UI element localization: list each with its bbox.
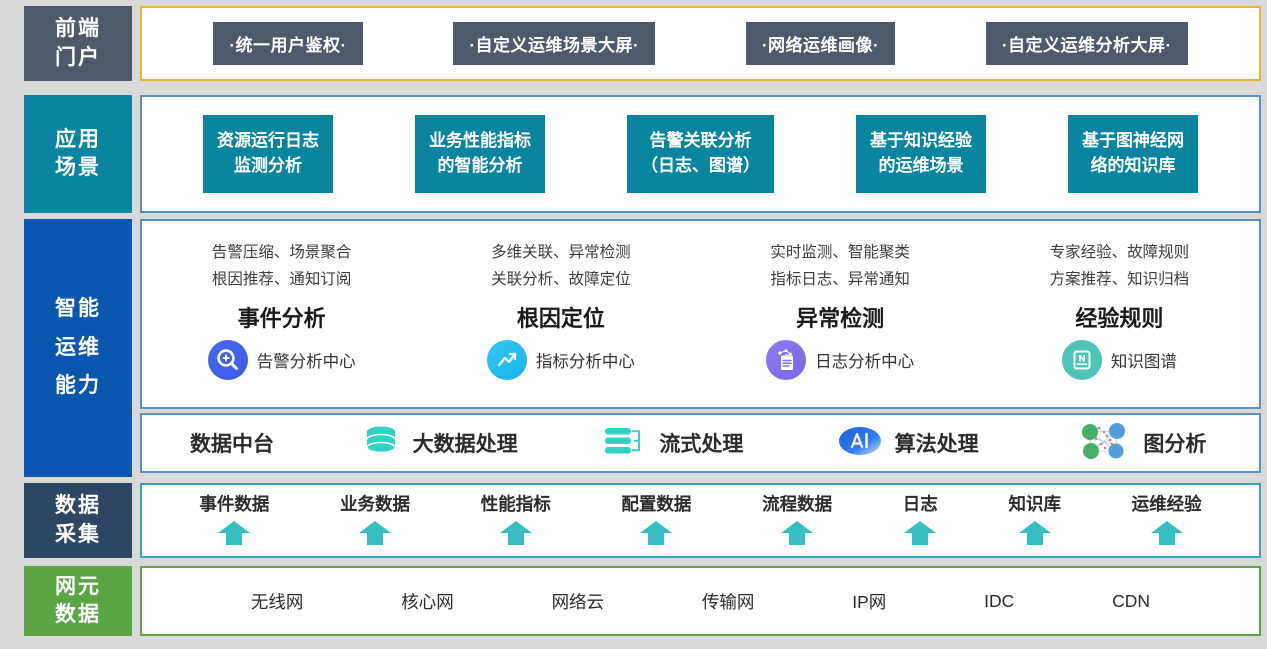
scenario-chip-resource-log[interactable]: 资源运行日志 监测分析 — [203, 115, 333, 192]
portal-chip-custom-ops-dashboard[interactable]: ·自定义运维场景大屏· — [453, 22, 655, 65]
aiops-architecture-diagram: 前端 门户 ·统一用户鉴权· ·自定义运维场景大屏· ·网络运维画像· ·自定义… — [0, 0, 1267, 649]
collect-item-config-data[interactable]: 配置数据 — [621, 491, 691, 546]
collect-item-label: 事件数据 — [199, 491, 269, 516]
data-platform-item-label: 算法处理 — [895, 428, 979, 458]
collect-item-label: 运维经验 — [1132, 491, 1202, 516]
collect-item-business-data[interactable]: 业务数据 — [340, 491, 410, 546]
capability-subtitle-2: 指标日志、异常通知 — [770, 266, 910, 293]
collect-item-label: 业务数据 — [340, 491, 410, 516]
capability-subtitle-1: 实时监测、智能聚类 — [770, 239, 910, 266]
ne-item-network-cloud[interactable]: 网络云 — [552, 589, 605, 614]
capability-center-name: 日志分析中心 — [815, 348, 914, 372]
row-label-application-scenario: 应用 场景 — [24, 95, 132, 213]
data-platform-item-label: 大数据处理 — [413, 428, 518, 458]
row-label-line2: 数据 — [55, 601, 101, 629]
collect-item-event-data[interactable]: 事件数据 — [199, 491, 269, 546]
row-label-data-collection: 数据 采集 — [24, 483, 132, 558]
data-platform-item-bigdata[interactable]: 大数据处理 — [322, 424, 556, 463]
capability-column-anomaly-detection: 实时监测、智能聚类 指标日志、异常通知 异常检测 — [701, 221, 980, 407]
capability-subtitle-2: 根因推荐、通知订阅 — [212, 266, 352, 293]
collect-item-knowledge-base[interactable]: 知识库 — [1008, 491, 1061, 546]
scenario-chip-business-kpi[interactable]: 业务性能指标 的智能分析 — [415, 115, 545, 192]
capability-center[interactable]: 告警分析中心 — [208, 340, 356, 380]
capability-center[interactable]: 指标分析中心 — [487, 340, 635, 380]
data-platform-title: 数据中台 — [142, 428, 322, 458]
capability-column-event-analysis: 告警压缩、场景聚合 根因推荐、通知订阅 事件分析 告警分析中心 — [142, 221, 421, 407]
capability-column-root-cause: 多维关联、异常检测 关联分析、故障定位 根因定位 指标分析中心 — [421, 221, 700, 407]
collect-item-label: 日志 — [903, 491, 938, 516]
collect-item-performance-kpi[interactable]: 性能指标 — [481, 491, 551, 546]
scenario-chip-gnn-knowledge-base[interactable]: 基于图神经网 络的知识库 — [1068, 115, 1198, 192]
svg-text:N: N — [1078, 355, 1086, 365]
row-label-line1: 数据 — [55, 492, 101, 520]
scenario-chip-line2: 的运维场景 — [870, 154, 972, 179]
collect-item-ops-experience[interactable]: 运维经验 — [1132, 491, 1202, 546]
row-application-scenario: 应用 场景 资源运行日志 监测分析 业务性能指标 的智能分析 告警关联分析 （日… — [0, 95, 1267, 213]
collect-item-label: 配置数据 — [621, 491, 691, 516]
ne-item-transport[interactable]: 传输网 — [702, 589, 755, 614]
portal-chip-custom-analysis-dashboard[interactable]: ·自定义运维分析大屏· — [986, 22, 1188, 65]
row-label-line1: 前端 — [55, 15, 101, 43]
capability-center[interactable]: N 知识图谱 — [1062, 340, 1177, 380]
row-frontend-portal: 前端 门户 ·统一用户鉴权· ·自定义运维场景大屏· ·网络运维画像· ·自定义… — [0, 6, 1267, 81]
row-label-network-element-data: 网元 数据 — [24, 566, 132, 636]
scenario-chip-line1: 资源运行日志 — [217, 129, 319, 154]
row-label-aiops-capability: 智能 运维 能力 — [24, 219, 132, 477]
capability-center-name: 知识图谱 — [1111, 348, 1177, 372]
capability-column-experience-rules: 专家经验、故障规则 方案推荐、知识归档 经验规则 N 知识图谱 — [980, 221, 1259, 407]
knowledge-graph-icon: N — [1062, 340, 1102, 380]
ne-item-idc[interactable]: IDC — [984, 591, 1014, 612]
row-label-line2: 采集 — [55, 521, 101, 549]
capability-title: 经验规则 — [1075, 301, 1163, 333]
aiops-right-stack: 告警压缩、场景聚合 根因推荐、通知订阅 事件分析 告警分析中心 — [140, 219, 1261, 477]
scenario-panel: 资源运行日志 监测分析 业务性能指标 的智能分析 告警关联分析 （日志、图谱） … — [140, 95, 1261, 213]
collect-item-label: 知识库 — [1008, 491, 1061, 516]
portal-chip-auth[interactable]: ·统一用户鉴权· — [213, 22, 362, 65]
scenario-chip-line1: 基于知识经验 — [870, 129, 972, 154]
up-arrow-icon — [499, 520, 533, 546]
capability-subtitle-2: 方案推荐、知识归档 — [1050, 266, 1190, 293]
up-arrow-icon — [1150, 520, 1184, 546]
row-network-element-data: 网元 数据 无线网 核心网 网络云 传输网 IP网 IDC CDN — [0, 566, 1267, 636]
scenario-chip-line2: 络的知识库 — [1082, 154, 1184, 179]
log-clipboard-icon — [766, 340, 806, 380]
capability-center-name: 指标分析中心 — [536, 348, 635, 372]
row-label-line1: 网元 — [55, 573, 101, 601]
capability-subtitle-1: 告警压缩、场景聚合 — [212, 239, 352, 266]
capability-subtitle-1: 专家经验、故障规则 — [1050, 239, 1190, 266]
row-label-frontend-portal: 前端 门户 — [24, 6, 132, 81]
network-element-panel: 无线网 核心网 网络云 传输网 IP网 IDC CDN — [140, 566, 1261, 636]
row-label-line2: 场景 — [55, 154, 101, 182]
capability-center-name: 告警分析中心 — [257, 348, 356, 372]
scenario-chip-knowledge-based-ops[interactable]: 基于知识经验 的运维场景 — [856, 115, 986, 192]
capability-subtitle-2: 关联分析、故障定位 — [491, 266, 631, 293]
data-platform-item-algorithm[interactable]: 算法处理 — [791, 424, 1025, 463]
graph-network-icon — [1077, 422, 1131, 465]
scenario-chip-line2: （日志、图谱） — [641, 154, 760, 179]
capability-title: 异常检测 — [796, 301, 884, 333]
up-arrow-icon — [639, 520, 673, 546]
capability-title: 事件分析 — [238, 301, 326, 333]
data-platform-item-label: 流式处理 — [659, 428, 743, 458]
scenario-chip-line1: 告警关联分析 — [641, 129, 760, 154]
up-arrow-icon — [780, 520, 814, 546]
scenario-chip-line1: 基于图神经网 — [1082, 129, 1184, 154]
row-label-line3: 能力 — [55, 367, 101, 406]
row-data-collection: 数据 采集 事件数据 业务数据 性能指标 配置数据 流程数据 — [0, 483, 1267, 558]
ne-item-wireless[interactable]: 无线网 — [251, 589, 304, 614]
metric-trend-icon — [487, 340, 527, 380]
scenario-chip-line1: 业务性能指标 — [429, 129, 531, 154]
capability-panel: 告警压缩、场景聚合 根因推荐、通知订阅 事件分析 告警分析中心 — [140, 219, 1261, 409]
data-collection-panel: 事件数据 业务数据 性能指标 配置数据 流程数据 日志 — [140, 483, 1261, 558]
scenario-chip-alarm-correlation[interactable]: 告警关联分析 （日志、图谱） — [627, 115, 774, 192]
alarm-search-icon — [208, 340, 248, 380]
up-arrow-icon — [903, 520, 937, 546]
scenario-chip-line2: 监测分析 — [217, 154, 319, 179]
scenario-chip-line2: 的智能分析 — [429, 154, 531, 179]
collect-item-log[interactable]: 日志 — [903, 491, 938, 546]
row-aiops-capability: 智能 运维 能力 告警压缩、场景聚合 根因推荐、通知订阅 事件分析 — [0, 219, 1267, 477]
up-arrow-icon — [358, 520, 392, 546]
data-platform-item-label: 图分析 — [1143, 428, 1206, 458]
data-platform-item-stream[interactable]: 流式处理 — [556, 424, 790, 463]
ne-item-cdn[interactable]: CDN — [1112, 591, 1150, 612]
row-label-line1: 智能 — [55, 290, 101, 329]
data-platform-item-graph[interactable]: 图分析 — [1025, 422, 1259, 465]
portal-chip-network-ops-profile[interactable]: ·网络运维画像· — [746, 22, 895, 65]
ai-icon — [837, 424, 883, 463]
row-label-line2: 门户 — [55, 44, 101, 72]
ne-item-ip-network[interactable]: IP网 — [852, 589, 886, 614]
ne-item-core-network[interactable]: 核心网 — [401, 589, 454, 614]
portal-panel: ·统一用户鉴权· ·自定义运维场景大屏· ·网络运维画像· ·自定义运维分析大屏… — [140, 6, 1261, 81]
up-arrow-icon — [1018, 520, 1052, 546]
data-platform-panel: 数据中台 大数据处理 — [140, 413, 1261, 473]
capability-subtitle-1: 多维关联、异常检测 — [491, 239, 631, 266]
database-icon — [361, 424, 401, 463]
collect-item-label: 性能指标 — [481, 491, 551, 516]
row-label-line1: 应用 — [55, 126, 101, 154]
stream-stack-icon — [603, 424, 647, 463]
capability-center[interactable]: 日志分析中心 — [766, 340, 914, 380]
row-label-line2: 运维 — [55, 329, 101, 368]
collect-item-process-data[interactable]: 流程数据 — [762, 491, 832, 546]
collect-item-label: 流程数据 — [762, 491, 832, 516]
up-arrow-icon — [217, 520, 251, 546]
capability-title: 根因定位 — [517, 301, 605, 333]
